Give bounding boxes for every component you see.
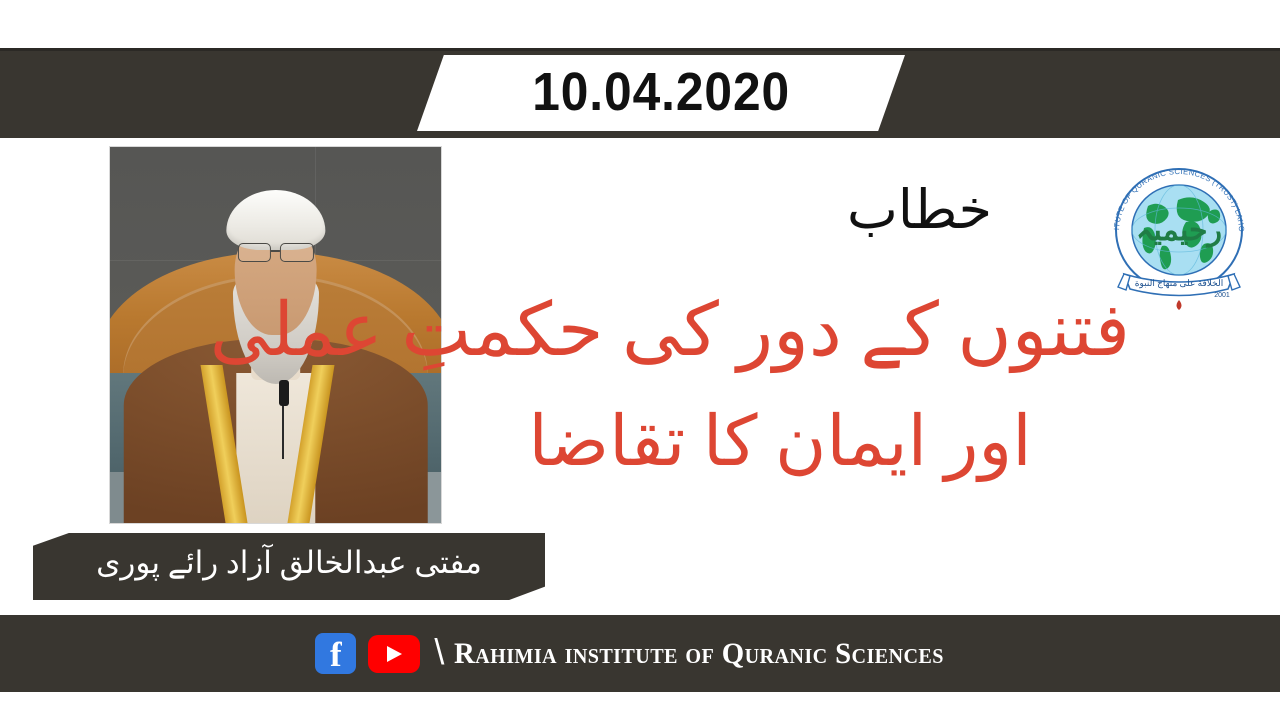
lecture-title-line-2: اور ایمان کا تقاضا xyxy=(430,400,1130,485)
lecture-title: فتنوں کے دور کی حکمتِ عملی اور ایمان کا … xyxy=(430,286,1130,486)
glasses-lens-left xyxy=(237,243,271,262)
facebook-icon[interactable]: f xyxy=(315,633,356,674)
separator-slash: \ xyxy=(434,631,444,673)
microphone-wire xyxy=(282,406,283,459)
social-icons: f xyxy=(315,633,420,674)
glasses-lens-right xyxy=(280,243,314,262)
rahimia-logo-icon: رحیمیہ RAHIMIA INSTITUTE OF QURANIC SCIE… xyxy=(1104,150,1254,310)
video-thumbnail-poster: 10.04.2020 مفتی عبدالخالق آزاد رائے پوری xyxy=(0,0,1280,720)
date-banner: 10.04.2020 xyxy=(417,55,905,131)
lecture-title-line-1: فتنوں کے دور کی حکمتِ عملی xyxy=(430,286,1130,376)
svg-text:2001: 2001 xyxy=(1214,292,1230,299)
speaker-name-ribbon: مفتی عبدالخالق آزاد رائے پوری xyxy=(33,533,545,600)
glasses-icon xyxy=(237,243,313,260)
footer-bar: f \ Rahimia institute of Quranic Science… xyxy=(0,615,1280,692)
speaker-name-text: مفتی عبدالخالق آزاد رائے پوری xyxy=(78,546,500,586)
lecture-kind-label: خطاب xyxy=(847,183,992,237)
play-triangle-icon xyxy=(387,646,402,662)
youtube-icon[interactable] xyxy=(368,635,420,673)
svg-text:رحیمیہ: رحیمیہ xyxy=(1136,214,1222,248)
facebook-glyph: f xyxy=(315,636,356,674)
lapel-microphone xyxy=(279,380,290,406)
date-text: 10.04.2020 xyxy=(532,65,790,121)
svg-text:الخلافة علی منهاج النبوة: الخلافة علی منهاج النبوة xyxy=(1135,278,1223,289)
footer-channel-title: Rahimia institute of Quranic Sciences xyxy=(454,637,944,671)
